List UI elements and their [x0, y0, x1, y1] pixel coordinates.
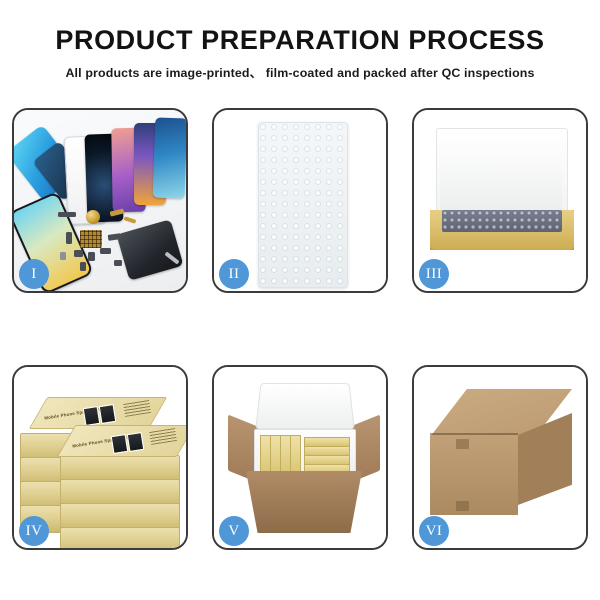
sealed-carton-tab-bottom	[456, 501, 469, 511]
spare-part-flex-2	[124, 216, 137, 224]
kraft-box-stack: Mobile Phone Spare Parts Mobile Phone Sp…	[20, 381, 184, 541]
spare-part-connector-grid	[80, 230, 102, 248]
bubble-wrap-bag	[258, 122, 348, 288]
step-numeral-badge-5: V	[219, 516, 249, 546]
spare-part-chip-1	[66, 232, 72, 244]
kraft-box-bubble-contents	[442, 210, 562, 232]
spare-part-chip-7	[60, 252, 66, 260]
spare-part-coin	[86, 210, 100, 224]
spare-part-chip-3	[88, 252, 95, 261]
spare-part-chip-4	[100, 248, 111, 254]
step-numeral-badge-1: I	[19, 259, 49, 289]
phone-screen-teal	[153, 117, 186, 198]
process-step-panel-5: V	[212, 365, 388, 550]
process-step-panel-6: VI	[412, 365, 588, 550]
spare-part-chip-6	[80, 262, 86, 271]
carton-body	[246, 471, 362, 533]
step-numeral-badge-3: III	[419, 259, 449, 289]
spare-part-chip-2	[74, 250, 83, 257]
kraft-box-foam-sheet	[440, 150, 562, 212]
process-step-panel-1: I	[12, 108, 188, 293]
step-numeral-badge-4: IV	[19, 516, 49, 546]
process-step-panel-4: Mobile Phone Spare Parts Mobile Phone Sp…	[12, 365, 188, 550]
spare-part-bar	[58, 212, 76, 217]
box-thumb-rear-2	[99, 404, 117, 424]
step-numeral-badge-2: II	[219, 259, 249, 289]
process-step-panel-2: II	[212, 108, 388, 293]
page-header: PRODUCT PREPARATION PROCESS All products…	[0, 0, 600, 81]
inner-yellow-box-4	[290, 435, 301, 475]
process-step-grid: I II III	[12, 108, 588, 550]
box-thumb-front-1	[111, 434, 129, 454]
stacked-box-front-4	[60, 527, 180, 548]
foam-lid	[255, 383, 354, 429]
box-thumb-front-2	[127, 432, 145, 452]
spare-part-chip-8	[114, 260, 122, 266]
step-numeral-badge-6: VI	[419, 516, 449, 546]
phone-rear-housing	[116, 219, 183, 281]
page-title: PRODUCT PREPARATION PROCESS	[0, 26, 600, 54]
sealed-carton-seam	[430, 433, 518, 435]
sealed-carton-tab-top	[456, 439, 469, 449]
page-subtitle: All products are image-printed、 film-coa…	[0, 63, 600, 81]
sealed-carton-front	[430, 435, 518, 515]
process-step-panel-3: III	[412, 108, 588, 293]
box-thumb-rear-1	[83, 406, 101, 426]
